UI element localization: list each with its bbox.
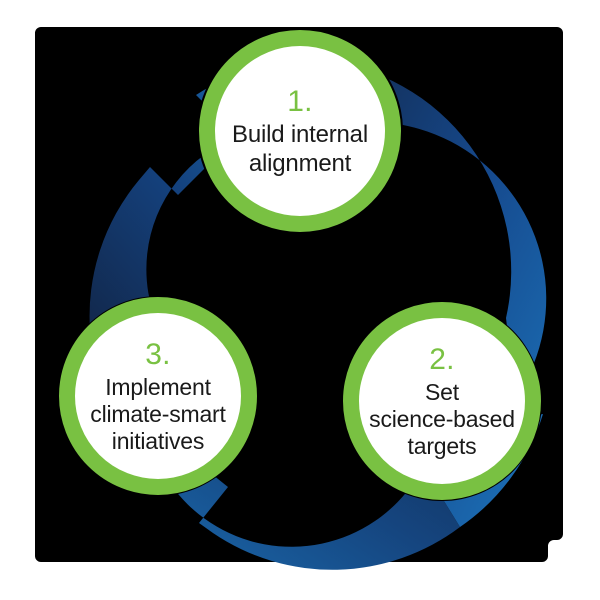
- cycle-node-step-1[interactable]: 1. Build internal alignment: [199, 30, 401, 232]
- cycle-node-step-3[interactable]: 3. Implement climate-smart initiatives: [59, 297, 257, 495]
- step-label-3: Implement climate-smart initiatives: [80, 374, 235, 455]
- step-number-3: 3.: [145, 337, 171, 372]
- step-label-3-line1: Implement: [105, 374, 211, 400]
- cycle-node-step-2[interactable]: 2. Set science-based targets: [343, 302, 541, 500]
- diagram-canvas: 1. Build internal alignment 2. Set scien…: [0, 0, 600, 600]
- step-number-2: 2.: [429, 342, 455, 377]
- step-label-1-line1: Build internal: [232, 121, 368, 148]
- step-label-1-line2: alignment: [249, 150, 351, 177]
- step-number-1: 1.: [287, 84, 313, 119]
- step-label-2: Set science-based targets: [359, 379, 525, 460]
- step-label-2-line1: Set: [425, 379, 459, 405]
- step-label-3-line3: initiatives: [112, 428, 204, 454]
- step-label-1: Build internal alignment: [222, 121, 378, 178]
- step-label-2-line3: targets: [408, 433, 477, 459]
- step-label-2-line2: science-based: [369, 406, 515, 432]
- step-label-3-line2: climate-smart: [90, 401, 225, 427]
